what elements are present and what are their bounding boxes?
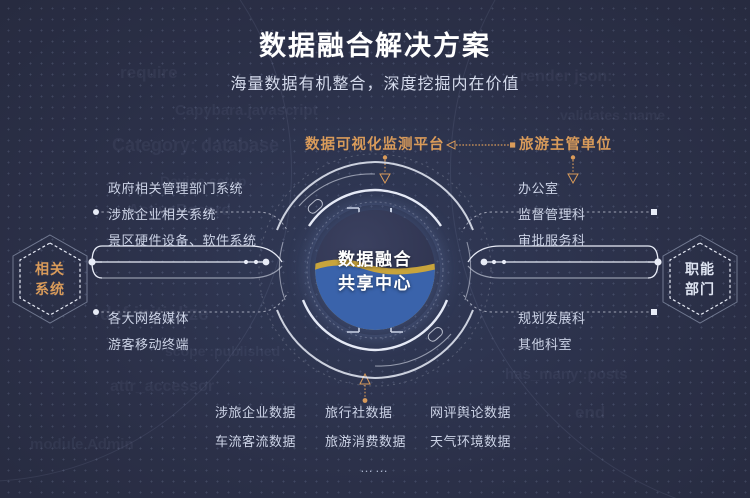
list-item: 政府相关管理部门系统 (108, 176, 257, 202)
hexagon-right-line2: 部门 (685, 279, 715, 299)
hexagon-left-line2: 系统 (35, 279, 65, 299)
list-item: 涉旅企业相关系统 (108, 202, 257, 228)
list-left-bottom: 各大网络媒体 游客移动终端 (108, 306, 189, 358)
bottom-item: 车流客流数据 (215, 431, 325, 450)
hexagon-related-systems[interactable]: 相关 系统 (8, 232, 92, 326)
bottom-item: 旅游消费数据 (325, 431, 430, 450)
infographic-canvas: require Capybara.javascript Category: da… (0, 0, 750, 498)
list-item: 审批服务科 (518, 228, 586, 254)
list-item: 监督管理科 (518, 202, 586, 228)
page-title: 数据融合解决方案 (0, 24, 750, 63)
hexagon-functional-departments[interactable]: 职能 部门 (658, 232, 742, 326)
bottom-ellipsis: …… (0, 460, 750, 475)
list-item: 景区硬件设备、软件系统 (108, 228, 257, 254)
bottom-data-grid: 涉旅企业数据 旅行社数据 网评舆论数据 车流客流数据 旅游消费数据 天气环境数据 (215, 402, 535, 450)
bottom-item: 网评舆论数据 (430, 402, 535, 421)
page-subtitle: 海量数据有机整合，深度挖掘内在价值 (0, 70, 750, 94)
arrow-connector-icon (446, 140, 518, 150)
bottom-item: 涉旅企业数据 (215, 402, 325, 421)
list-item: 游客移动终端 (108, 332, 189, 358)
list-left-top: 政府相关管理部门系统 涉旅企业相关系统 景区硬件设备、软件系统 (108, 176, 257, 254)
bottom-item: 旅行社数据 (325, 402, 430, 421)
list-item: 其他科室 (518, 332, 586, 358)
center-sphere-label: 数据融合 共享中心 (305, 248, 445, 296)
hexagon-right-line1: 职能 (685, 259, 715, 279)
bottom-item: 天气环境数据 (430, 431, 535, 450)
center-line1: 数据融合 (305, 248, 445, 272)
list-item: 办公室 (518, 176, 586, 202)
list-item: 各大网络媒体 (108, 306, 189, 332)
list-right-top: 办公室 监督管理科 审批服务科 (518, 176, 586, 254)
list-item: 规划发展科 (518, 306, 586, 332)
hexagon-left-line1: 相关 (35, 259, 65, 279)
center-line2: 共享中心 (305, 272, 445, 296)
list-right-bottom: 规划发展科 其他科室 (518, 306, 586, 358)
